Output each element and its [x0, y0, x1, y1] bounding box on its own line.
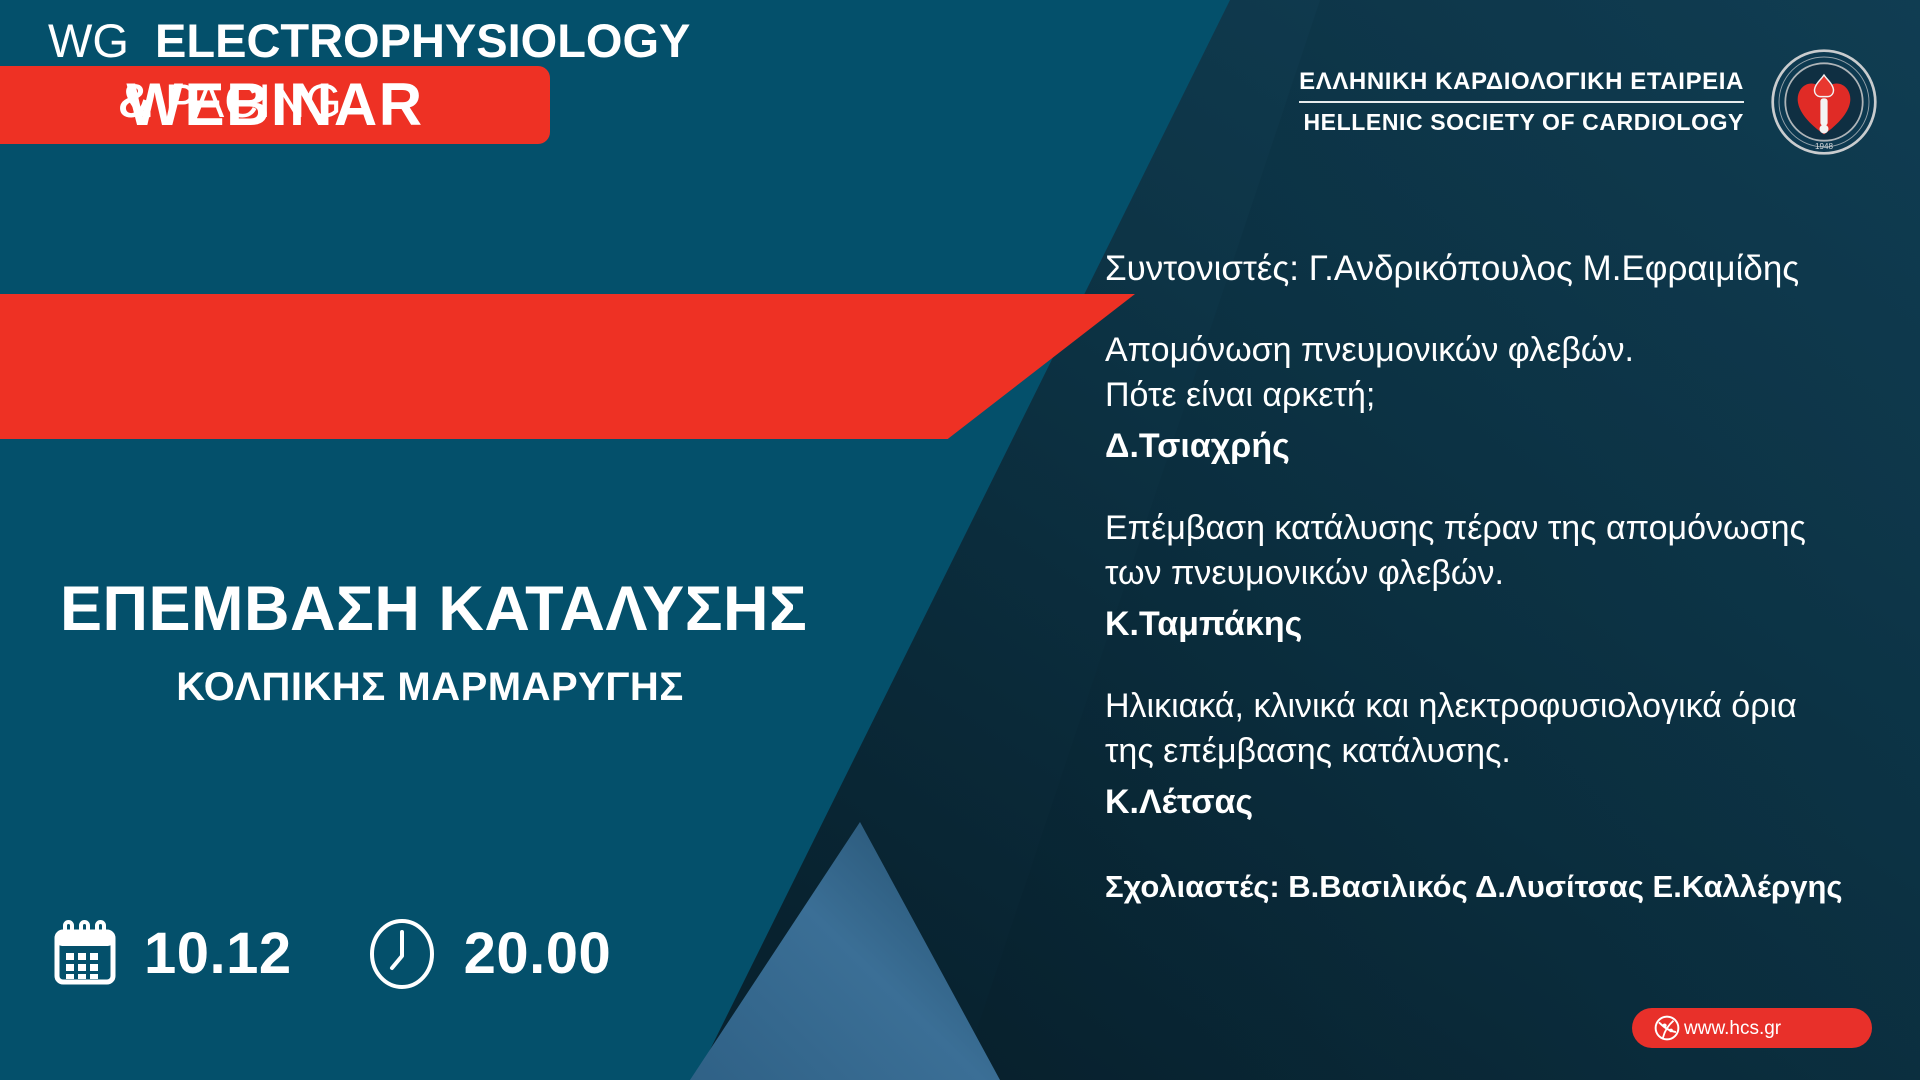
talk-item: Απομόνωση πνευμονικών φλεβών. Πότε είναι… [1105, 328, 1915, 468]
talk-item: Επέμβαση κατάλυσης πέραν της απομόνωσης … [1105, 506, 1915, 646]
calendar-icon [52, 920, 118, 988]
webinar-poster: WEBINAR ΕΛΛΗΝΙΚΗ ΚΑΡΔΙΟΛΟΓΙΚΗ ΕΤΑΙΡΕΙΑ H… [0, 0, 1920, 1080]
talk-title: Απομόνωση πνευμονικών φλεβών. Πότε είναι… [1105, 328, 1915, 418]
light-blue-triangle [690, 822, 1000, 1080]
talk-item: Ηλικιακά, κλινικά και ηλεκτροφυσιολογικά… [1105, 684, 1915, 824]
event-time: 20.00 [464, 925, 612, 983]
talk-speaker: Δ.Τσιαχρής [1105, 424, 1915, 468]
globe-icon [1654, 1015, 1680, 1041]
event-date: 10.12 [144, 925, 292, 983]
society-divider [1299, 101, 1744, 103]
society-name-english: HELLENIC SOCIETY OF CARDIOLOGY [1299, 108, 1744, 137]
talk-title: Ηλικιακά, κλινικά και ηλεκτροφυσιολογικά… [1105, 684, 1915, 774]
emblem-year: 1948 [1815, 142, 1833, 151]
hsc-emblem-icon: 1948 [1770, 48, 1878, 156]
website-url-label: www.hcs.gr [1684, 1019, 1781, 1038]
talk-title: Επέμβαση κατάλυσης πέραν της απομόνωσης … [1105, 506, 1915, 596]
wg-ampersand: & [118, 74, 152, 127]
working-group-line-1: WG ELECTROPHYSIOLOGY [48, 16, 690, 65]
page-title: ΕΠΕΜΒΑΣΗ ΚΑΤΑΛΥΣΗΣ [60, 578, 800, 641]
working-group-band [0, 294, 1135, 439]
talk-speaker: Κ.Ταμπάκης [1105, 602, 1915, 646]
working-group-line-2: & PACING [118, 76, 342, 125]
society-logo: ΕΛΛΗΝΙΚΗ ΚΑΡΔΙΟΛΟΓΙΚΗ ΕΤΑΙΡΕΙΑ HELLENIC … [1299, 48, 1878, 156]
commentators-line: Σχολιαστές: Β.Βασιλικός Δ.Λυσίτσας Ε.Καλ… [1105, 868, 1915, 905]
wg-name: ELECTROPHYSIOLOGY [155, 14, 690, 67]
website-badge[interactable]: www.hcs.gr [1632, 1008, 1872, 1048]
wg-prefix: WG [48, 14, 129, 67]
moderators-line: Συντονιστές: Γ.Ανδρικόπουλος Μ.Εφραιμίδη… [1105, 248, 1915, 290]
society-name-greek: ΕΛΛΗΝΙΚΗ ΚΑΡΔΙΟΛΟΓΙΚΗ ΕΤΑΙΡΕΙΑ [1299, 67, 1744, 97]
society-logo-text: ΕΛΛΗΝΙΚΗ ΚΑΡΔΙΟΛΟΓΙΚΗ ΕΤΑΙΡΕΙΑ HELLENIC … [1299, 67, 1744, 137]
date-time-row: 10.12 20.00 [52, 918, 611, 990]
talk-speaker: Κ.Λέτσας [1105, 780, 1915, 824]
wg-second-name: PACING [165, 74, 342, 127]
page-subtitle: ΚΟΛΠΙΚΗΣ ΜΑΡΜΑΡΥΓΗΣ [60, 667, 800, 707]
clock-icon [366, 918, 438, 990]
programme-panel: Συντονιστές: Γ.Ανδρικόπουλος Μ.Εφραιμίδη… [1105, 248, 1915, 905]
